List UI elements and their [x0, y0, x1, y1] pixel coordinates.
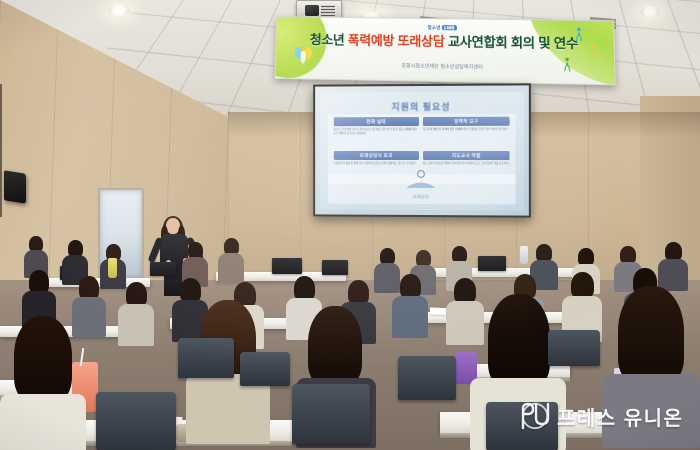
person-body [118, 304, 154, 346]
slide-title: 지원의 필요성 [320, 100, 524, 114]
slide-box-heading: 또래상담의 효과 [333, 151, 419, 160]
banner-title: 청소년 폭력예방 또래상담 교사연합회 회의 및 연수 [276, 33, 614, 51]
drink-cup [108, 258, 117, 278]
person-body [0, 394, 86, 450]
slide-box-body: 학교폭력 예방 및 대책에 관한 법률에 따라 또래상담 운영 기반 마련이 필… [423, 128, 510, 132]
wall-speaker-icon [4, 170, 26, 203]
slide-box-heading: 정책적 요구 [423, 117, 510, 126]
drink-cup [520, 246, 528, 264]
slide-box-body: 지도교사의 전문성 강화와 지속적인 연수 지원이 프로그램 운영의 핵심 요소… [423, 162, 510, 166]
person-hair [488, 294, 550, 388]
projection-screen: 지원의 필요성 현재 실태 청소년 폭력 발생 건수가 지속적으로 증가하고 있… [315, 85, 529, 215]
banner-title-part3: 교사연합회 회의 및 연수 [445, 34, 579, 51]
slide-footer-panel: 또래상담 [328, 174, 516, 205]
banner-1388-badge: 1388 [442, 25, 457, 30]
projector-lens-icon [305, 5, 319, 16]
slide-box-heading: 현재 실태 [333, 117, 419, 126]
slide-box-body: 청소년 폭력 발생 건수가 지속적으로 증가하고 있으며 또래 간 갈등 상황에… [333, 128, 419, 136]
runner-yellow-icon [590, 43, 598, 59]
chair[interactable] [548, 330, 600, 366]
slide-box: 현재 실태 청소년 폭력 발생 건수가 지속적으로 증가하고 있으며 또래 간 … [333, 117, 419, 136]
photo-scene: 청소년1388 청소년 폭력예방 또래상담 교사연합회 회의 및 연수 포항시청… [0, 0, 700, 450]
slide-footer-label: 또래상담 [328, 194, 516, 201]
event-banner: 청소년1388 청소년 폭력예방 또래상담 교사연합회 회의 및 연수 포항시청… [275, 16, 616, 85]
projection-screen-frame: 지원의 필요성 현재 실태 청소년 폭력 발생 건수가 지속적으로 증가하고 있… [313, 83, 531, 217]
slide-box: 정책적 요구 학교폭력 예방 및 대책에 관한 법률에 따라 또래상담 운영 기… [423, 117, 510, 132]
recessed-light-icon [108, 4, 130, 16]
person-body [218, 253, 244, 283]
chair[interactable] [292, 384, 370, 444]
person-icon [403, 169, 439, 189]
presentation-slide: 지원의 필요성 현재 실태 청소년 폭력 발생 건수가 지속적으로 증가하고 있… [320, 91, 524, 210]
audience-person [562, 272, 602, 336]
runner-blue-icon [575, 27, 582, 43]
slide-box-body: 또래상담자 활동을 통해 학교 적응력과 공감 능력이 향상되는 것으로 나타났… [333, 162, 419, 166]
chair[interactable] [96, 392, 176, 450]
slide-box-heading: 지도교사 역할 [423, 151, 510, 160]
audience-person [602, 286, 700, 436]
audience-person [218, 238, 244, 280]
chair[interactable] [486, 402, 558, 450]
audience-person [0, 316, 86, 450]
person-body [392, 296, 428, 338]
person-hair [14, 316, 72, 402]
projector-vent-icon [321, 5, 335, 16]
slide-box: 지도교사 역할 지도교사의 전문성 강화와 지속적인 연수 지원이 프로그램 운… [423, 151, 510, 166]
monitor [478, 256, 506, 271]
banner-header-label: 청소년 [427, 25, 440, 30]
recessed-light-icon [640, 6, 660, 17]
banner-title-part1: 청소년 [310, 32, 348, 47]
chair[interactable] [240, 352, 290, 386]
monitor [272, 258, 302, 274]
banner-title-highlight2: 또래상담 [398, 33, 445, 49]
person-hair [571, 272, 594, 299]
person-hair [618, 286, 684, 384]
person-hair [308, 306, 362, 386]
chair[interactable] [178, 338, 234, 378]
monitor [322, 260, 348, 275]
audience-person [392, 274, 428, 334]
chair[interactable] [398, 356, 456, 400]
screen-left-shadow [0, 84, 2, 217]
audience-person [118, 282, 154, 342]
monitor [150, 262, 176, 276]
slide-box: 또래상담의 효과 또래상담자 활동을 통해 학교 적응력과 공감 능력이 향상되… [333, 151, 419, 166]
banner-title-highlight1: 폭력예방 [348, 33, 395, 48]
runner-green-icon [563, 57, 570, 73]
person-body [602, 374, 700, 448]
